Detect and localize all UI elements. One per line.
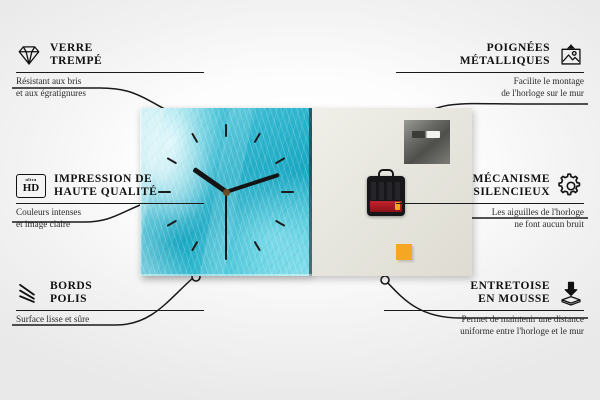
- hour-marker-bar: [281, 191, 294, 193]
- feature-subtitle-line2: et image claire: [16, 219, 204, 231]
- feature-verre-trempe: VERRE TREMPÉ Résistant aux bris et aux é…: [16, 42, 204, 99]
- feature-divider: [16, 310, 204, 311]
- hour-marker-bar: [225, 124, 227, 137]
- feature-mecanisme-silencieux: MÉCANISME SILENCIEUX Les aiguilles de l'…: [396, 173, 584, 230]
- feature-divider: [16, 72, 204, 73]
- feature-entretoise-mousse: ENTRETOISE EN MOUSSE Permet de maintenir…: [384, 280, 584, 337]
- feature-title-line2: EN MOUSSE: [470, 293, 550, 306]
- feature-title-line2: HAUTE QUALITÉ: [54, 186, 157, 199]
- hour-marker-bar: [275, 157, 286, 164]
- feature-subtitle-line1: Couleurs intenses: [16, 207, 204, 219]
- hour-marker: [226, 191, 294, 193]
- foam-spacer: [396, 244, 412, 260]
- picture-frame-hanging-icon: [558, 42, 584, 68]
- feature-divider: [384, 310, 584, 311]
- feature-subtitle-line1: Permet de maintenir une distance: [384, 314, 584, 326]
- feature-impression-hd: ultra HD IMPRESSION DE HAUTE QUALITÉ Cou…: [16, 173, 204, 230]
- feature-subtitle-line2: uniforme entre l'horloge et le mur: [384, 326, 584, 338]
- hour-marker: [225, 124, 227, 192]
- metal-hanger-bracket: [404, 120, 450, 164]
- hd-badge-large-text: HD: [23, 183, 40, 194]
- feature-title-line1: IMPRESSION DE: [54, 173, 157, 186]
- hour-marker-bar: [191, 133, 198, 144]
- arrow-down-layers-icon: [558, 280, 584, 306]
- second-hand: [225, 192, 227, 252]
- feature-title-line2: MÉTALLIQUES: [460, 55, 550, 68]
- feature-subtitle-line1: Les aiguilles de l'horloge: [396, 207, 584, 219]
- feature-divider: [396, 203, 584, 204]
- hour-marker-bar: [167, 157, 178, 164]
- bracket-slot: [412, 131, 440, 138]
- feature-poignees-metalliques: POIGNÉES MÉTALLIQUES Facilite le montage…: [396, 42, 584, 99]
- panel-edge-bottom: [140, 274, 312, 276]
- feature-title-line2: TREMPÉ: [50, 55, 102, 68]
- feature-title-line1: BORDS: [50, 280, 92, 293]
- feature-subtitle-line2: et aux égratignures: [16, 88, 204, 100]
- feature-title-line2: SILENCIEUX: [473, 186, 550, 199]
- feature-subtitle-line1: Facilite le montage: [396, 76, 584, 88]
- feature-subtitle-line1: Résistant aux bris: [16, 76, 204, 88]
- diagonal-lines-icon: [16, 280, 42, 306]
- feature-divider: [396, 72, 584, 73]
- feature-divider: [16, 203, 204, 204]
- feature-title-line1: ENTRETOISE: [470, 280, 550, 293]
- ultra-hd-badge-icon: ultra HD: [16, 174, 46, 198]
- hour-marker-bar: [275, 220, 286, 227]
- feature-subtitle-line1: Surface lisse et sûre: [16, 314, 204, 326]
- feature-subtitle-line2: de l'horloge sur le mur: [396, 88, 584, 100]
- clock-center-cap: [223, 189, 230, 196]
- hour-marker-bar: [254, 241, 261, 252]
- diamond-icon: [16, 42, 42, 68]
- hour-marker-bar: [254, 133, 261, 144]
- feature-title-line1: VERRE: [50, 42, 102, 55]
- gear-icon: [558, 173, 584, 199]
- feature-title-line1: MÉCANISME: [473, 173, 550, 186]
- hour-marker-bar: [191, 241, 198, 252]
- feature-subtitle-line2: ne font aucun bruit: [396, 219, 584, 231]
- feature-title-line1: POIGNÉES: [460, 42, 550, 55]
- feature-bords-polis: BORDS POLIS Surface lisse et sûre: [16, 280, 204, 326]
- movement-hook: [378, 169, 394, 178]
- feature-title-line2: POLIS: [50, 293, 92, 306]
- infographic-canvas: VERRE TREMPÉ Résistant aux bris et aux é…: [0, 0, 600, 400]
